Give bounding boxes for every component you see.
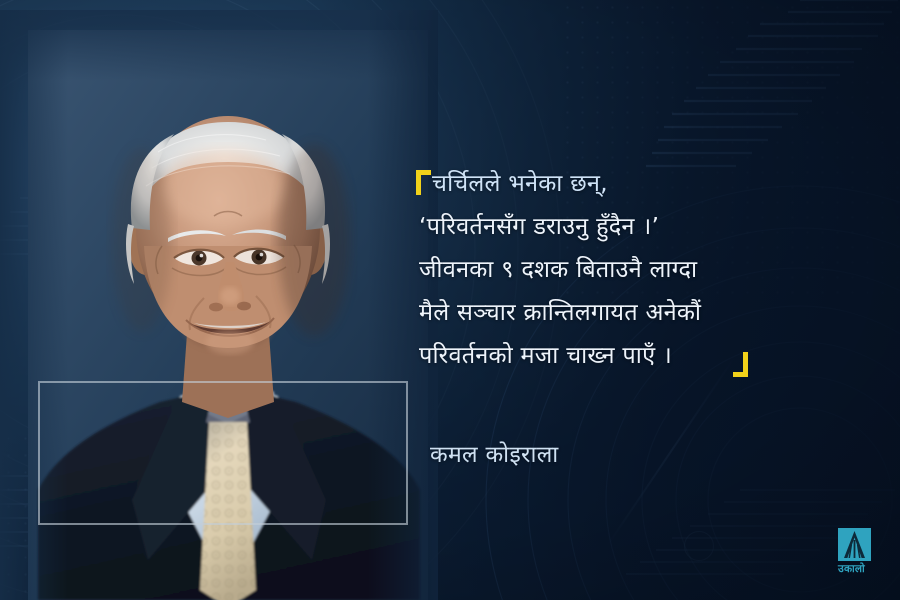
ukalo-road-logo-icon — [838, 528, 871, 561]
quote-open-bracket-icon — [416, 170, 431, 195]
quote-line-2: ‘परिवर्तनसँग डराउनु हुँदैन ।’ — [414, 205, 814, 248]
quote-line-4: मैले सञ्चार क्रान्तिलगायत अनेकौं — [414, 291, 814, 334]
quote-line-5: परिवर्तनको मजा चाख्न पाएँ । — [414, 334, 814, 377]
brand-logo[interactable]: उकालो — [838, 528, 878, 576]
quote-card: चर्चिलले भनेका छन्, ‘परिवर्तनसँग डराउनु … — [0, 0, 900, 600]
quote-text-block: चर्चिलले भनेका छन्, ‘परिवर्तनसँग डराउनु … — [414, 162, 814, 377]
quote-attribution: कमल कोइराला — [430, 437, 559, 469]
brand-name: उकालो — [838, 563, 878, 575]
quote-line-3: जीवनका ९ दशक बिताउनै लाग्दा — [414, 248, 814, 291]
quote-close-bracket-icon — [733, 352, 748, 377]
photo-frame-border — [38, 381, 408, 525]
quote-line-1: चर्चिलले भनेका छन्, — [414, 162, 814, 205]
